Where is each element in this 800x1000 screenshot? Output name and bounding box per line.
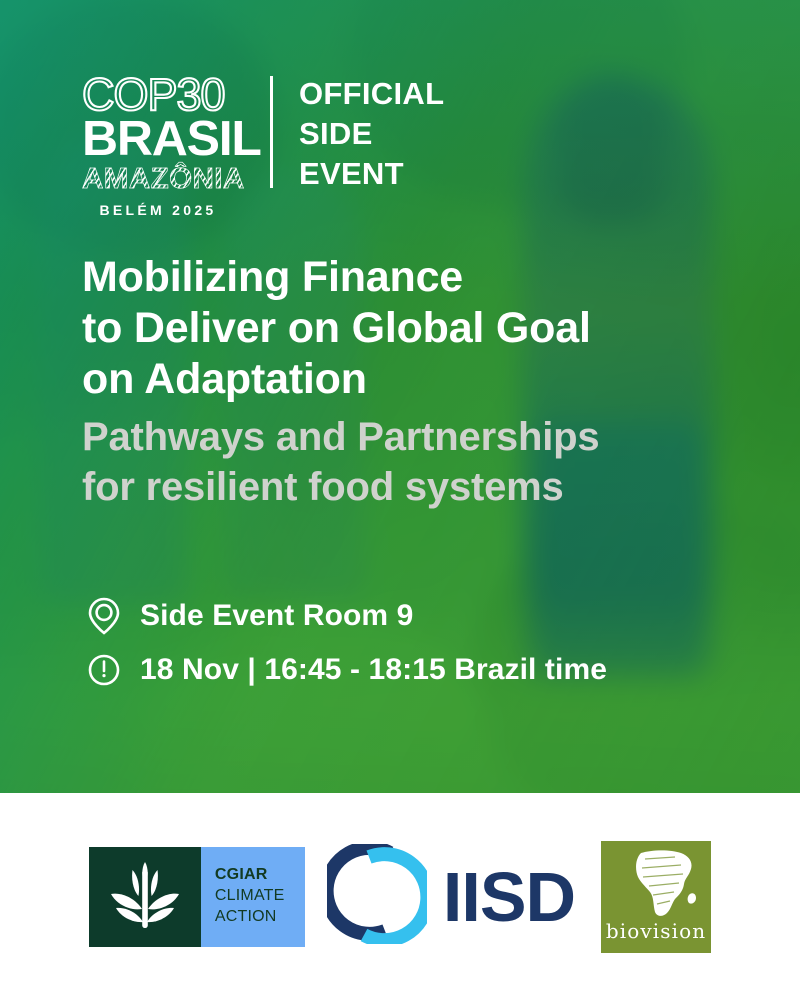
climate-label: CLIMATE xyxy=(215,886,285,907)
header-divider xyxy=(270,76,273,188)
partner-logo-bar: CGIAR CLIMATE ACTION IISD xyxy=(0,793,800,1000)
badge-line-official: OFFICIAL xyxy=(299,74,444,114)
hero-banner: COP30 BRASIL AMAZÔNIA BELÉM 2025 OFFICIA… xyxy=(0,0,800,793)
cop30-logo-line-brasil: BRASIL xyxy=(82,117,251,162)
wheat-sheaf-icon xyxy=(108,854,182,939)
cop30-logo-line-amazonia: AMAZÔNIA xyxy=(82,165,251,194)
cgiar-label: CGIAR xyxy=(215,865,268,886)
official-side-event-badge: OFFICIAL SIDE EVENT xyxy=(299,72,444,194)
header-row: COP30 BRASIL AMAZÔNIA BELÉM 2025 OFFICIA… xyxy=(82,72,444,217)
badge-line-side: SIDE xyxy=(299,114,444,154)
title-block: Mobilizing Finance to Deliver on Global … xyxy=(82,252,742,513)
event-poster: COP30 BRASIL AMAZÔNIA BELÉM 2025 OFFICIA… xyxy=(0,0,800,1000)
badge-line-event: EVENT xyxy=(299,154,444,194)
action-label: ACTION xyxy=(215,907,277,928)
event-details: Side Event Room 9 18 Nov | 16:45 - 18:15… xyxy=(84,596,607,704)
title-line-2: to Deliver on Global Goal xyxy=(82,303,742,354)
cgiar-text-block: CGIAR CLIMATE ACTION xyxy=(201,847,305,947)
split-ring-icon xyxy=(327,844,427,949)
cop30-logo-line-cop30: COP30 xyxy=(82,74,248,115)
location-row: Side Event Room 9 xyxy=(84,596,607,636)
iisd-wordmark: IISD xyxy=(443,862,575,932)
title-line-1: Mobilizing Finance xyxy=(82,252,742,303)
africa-map-icon xyxy=(629,847,701,923)
cgiar-mark xyxy=(89,847,201,947)
clock-icon xyxy=(84,650,124,690)
cgiar-climate-action-logo: CGIAR CLIMATE ACTION xyxy=(89,847,305,947)
subtitle-line-2: for resilient food systems xyxy=(82,463,742,513)
biovision-logo: biovision xyxy=(601,841,711,953)
iisd-logo: IISD xyxy=(327,844,575,949)
title-line-3: on Adaptation xyxy=(82,354,742,405)
cop30-logo: COP30 BRASIL AMAZÔNIA BELÉM 2025 xyxy=(82,72,248,217)
location-text: Side Event Room 9 xyxy=(140,599,413,633)
event-subtitle: Pathways and Partnerships for resilient … xyxy=(82,413,742,512)
event-title: Mobilizing Finance to Deliver on Global … xyxy=(82,252,742,405)
biovision-wordmark: biovision xyxy=(601,919,711,943)
map-pin-icon xyxy=(84,596,124,636)
cop30-logo-line-belem: BELÉM 2025 xyxy=(82,203,234,217)
datetime-text: 18 Nov | 16:45 - 18:15 Brazil time xyxy=(140,653,607,687)
datetime-row: 18 Nov | 16:45 - 18:15 Brazil time xyxy=(84,650,607,690)
logo-strip: CGIAR CLIMATE ACTION IISD xyxy=(89,842,711,952)
subtitle-line-1: Pathways and Partnerships xyxy=(82,413,742,463)
